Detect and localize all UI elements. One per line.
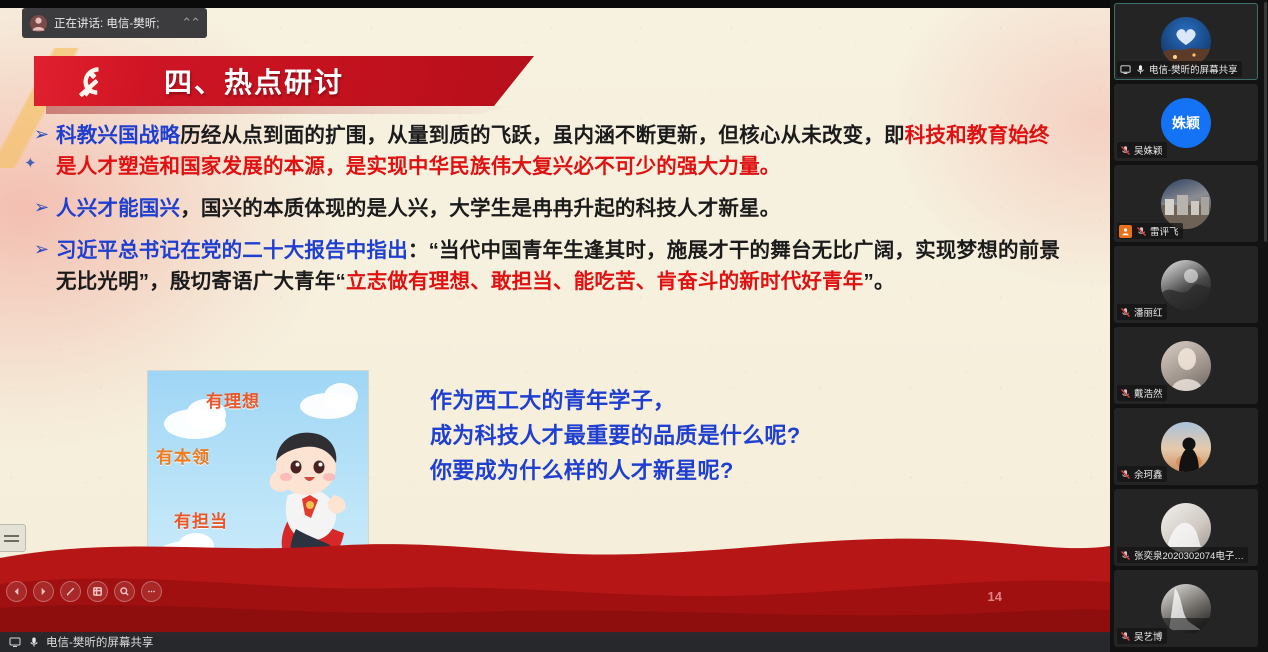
slide-bullet-list: ➢ 科教兴国战略历经从点到面的扩围，从量到质的飞跃，虽内涵不断更新，但核心从未改… xyxy=(34,120,1064,308)
participant-tile[interactable]: 张奕泉2020302074电子… xyxy=(1114,489,1258,566)
microphone-muted-icon xyxy=(1119,144,1131,156)
bullet-run: 历经从点到面的扩围，从量到质的飞跃，虽内涵不断更新，但核心从未改变，即 xyxy=(180,124,905,147)
participant-tile[interactable]: 吴艺博 xyxy=(1114,570,1258,647)
flying-boy-character-icon xyxy=(244,417,364,577)
collapsed-toolbar-handle[interactable] xyxy=(0,524,26,552)
powerpoint-slide[interactable]: ✦ 四、热点研讨 ➢ 科教兴国 xyxy=(0,8,1110,636)
microphone-muted-icon xyxy=(1135,225,1147,237)
microphone-muted-icon xyxy=(1119,630,1131,642)
participant-tile[interactable]: 雷评飞 xyxy=(1114,165,1258,242)
microphone-muted-icon xyxy=(1119,306,1131,318)
participant-panel-scrollbar[interactable] xyxy=(1264,2,1267,242)
next-slide-button[interactable] xyxy=(33,581,54,602)
participant-tile[interactable]: 余珂鑫 xyxy=(1114,408,1258,485)
avatar xyxy=(1161,179,1211,229)
white-texture-photo-icon xyxy=(1161,503,1211,553)
screen-share-icon xyxy=(8,636,21,649)
person-glyph-icon xyxy=(30,15,47,32)
grid-slides-icon xyxy=(92,586,103,597)
participant-tile[interactable]: 戴浩然 xyxy=(1114,327,1258,404)
heart-sky-photo-icon xyxy=(1161,17,1211,67)
participant-name: 张奕泉2020302074电子… xyxy=(1134,548,1244,562)
participant-tile[interactable]: 姝颖 吴姝颖 xyxy=(1114,84,1258,161)
participant-label: 电信-樊昕的屏幕共享 xyxy=(1117,61,1242,77)
avatar xyxy=(1161,260,1211,310)
host-badge-icon xyxy=(1119,225,1132,238)
participant-name: 雷评飞 xyxy=(1150,224,1179,238)
bullet-text-3: 习近平总书记在党的二十大报告中指出：“当代中国青年生逢其时，施展才干的舞台无比广… xyxy=(56,235,1064,297)
participant-label: 戴浩然 xyxy=(1117,385,1167,401)
participant-tile[interactable]: 潘丽红 xyxy=(1114,246,1258,323)
triangle-right-icon xyxy=(38,586,49,597)
cloud-shape xyxy=(178,533,214,559)
slideshow-toolbar[interactable] xyxy=(6,581,162,602)
person-avatar-icon xyxy=(30,15,47,32)
question-line-1: 作为西工大的青年学子， xyxy=(430,383,1050,418)
illustration-word-3: 有担当 xyxy=(174,507,228,532)
bullet-run: ”。 xyxy=(864,270,895,293)
participant-label: 雷评飞 xyxy=(1117,223,1183,239)
bullet-item-3: ➢ 习近平总书记在党的二十大报告中指出：“当代中国青年生逢其时，施展才干的舞台无… xyxy=(34,235,1064,297)
participant-name: 吴姝颖 xyxy=(1134,143,1163,157)
avatar xyxy=(1161,584,1211,634)
double-chevron-icon[interactable]: ⌃⌃ xyxy=(181,15,199,31)
slide-page-number: 14 xyxy=(988,589,1002,604)
pen-tool-button[interactable] xyxy=(60,581,81,602)
pen-icon xyxy=(65,586,76,597)
screen-share-icon xyxy=(1119,63,1131,75)
dark-texture-photo-icon xyxy=(1161,584,1211,634)
discussion-questions: 作为西工大的青年学子， 成为科技人才最重要的品质是什么呢? 你要成为什么样的人才… xyxy=(430,383,1050,488)
slide-title: 四、热点研讨 xyxy=(164,56,344,106)
avatar xyxy=(1161,341,1211,391)
microphone-icon xyxy=(1134,63,1146,75)
hammer-and-sickle-icon xyxy=(70,61,112,101)
participant-label: 吴艺博 xyxy=(1117,628,1167,644)
city-photo-icon xyxy=(1161,179,1211,229)
participant-label: 吴姝颖 xyxy=(1117,142,1167,158)
share-status-bar: 电信-樊昕的屏幕共享 xyxy=(0,632,1110,652)
avatar xyxy=(1161,422,1211,472)
all-slides-button[interactable] xyxy=(87,581,108,602)
bullet-item-2: ➢ 人兴才能国兴，国兴的本质体现的是人兴，大学生是冉冉升起的科技人才新星。 xyxy=(34,193,1064,224)
slide-title-banner: 四、热点研讨 xyxy=(34,56,534,114)
shared-screen-area[interactable]: ✦ 四、热点研讨 ➢ 科教兴国 xyxy=(0,0,1110,652)
bullet-marker-icon: ➢ xyxy=(34,235,56,264)
bullet-run: 人兴才能国兴 xyxy=(56,197,180,220)
participant-label: 潘丽红 xyxy=(1117,304,1167,320)
participant-name: 潘丽红 xyxy=(1134,305,1163,319)
microphone-muted-icon xyxy=(1119,468,1131,480)
participant-label: 余珂鑫 xyxy=(1117,466,1167,482)
bullet-run: 立志做有理想、敢担当、能吃苦、肯奋斗的新时代好青年 xyxy=(346,270,864,293)
illustration-word-2: 有本领 xyxy=(156,443,210,468)
participant-name: 吴艺博 xyxy=(1134,629,1163,643)
question-line-2: 成为科技人才最重要的品质是什么呢? xyxy=(430,418,1050,453)
active-speaker-label: 正在讲话: 电信-樊昕; xyxy=(54,15,174,31)
bullet-text-1: 科教兴国战略历经从点到面的扩围，从量到质的飞跃，虽内涵不断更新，但核心从未改变，… xyxy=(56,120,1064,182)
participant-video-panel[interactable]: 电信-樊昕的屏幕共享 姝颖 吴姝颖 xyxy=(1110,0,1268,652)
participant-tile-screen-share[interactable]: 电信-樊昕的屏幕共享 xyxy=(1114,3,1258,80)
share-status-label: 电信-樊昕的屏幕共享 xyxy=(46,634,153,650)
microphone-icon xyxy=(27,636,40,649)
bullet-run: 科教兴国战略 xyxy=(56,124,180,147)
bullet-marker-icon: ➢ xyxy=(34,120,56,149)
sunset-silhouette-photo-icon xyxy=(1161,422,1211,472)
zoom-button[interactable] xyxy=(114,581,135,602)
bullet-text-2: 人兴才能国兴，国兴的本质体现的是人兴，大学生是冉冉升起的科技人才新星。 xyxy=(56,193,1064,224)
party-emblem-block xyxy=(34,56,152,106)
avatar xyxy=(1161,17,1211,67)
cloud-shape xyxy=(324,383,358,411)
magnifier-icon xyxy=(119,586,130,597)
grayscale-photo-icon xyxy=(1161,260,1211,310)
more-options-button[interactable] xyxy=(141,581,162,602)
question-line-3: 你要成为什么样的人才新星呢? xyxy=(430,453,1050,488)
portrait-photo-icon xyxy=(1161,341,1211,391)
bullet-run: 习近平总书记在党的二十大报告中指出 xyxy=(56,239,408,262)
participant-name: 余珂鑫 xyxy=(1134,467,1163,481)
participant-name: 电信-樊昕的屏幕共享 xyxy=(1149,62,1238,76)
microphone-muted-icon xyxy=(1119,387,1131,399)
bullet-item-1: ➢ 科教兴国战略历经从点到面的扩围，从量到质的飞跃，虽内涵不断更新，但核心从未改… xyxy=(34,120,1064,182)
handle-line xyxy=(4,540,19,542)
microphone-muted-icon xyxy=(1119,549,1131,561)
meeting-screen-share-window: ✦ 四、热点研讨 ➢ 科教兴国 xyxy=(0,0,1268,652)
avatar: 姝颖 xyxy=(1161,98,1211,148)
participant-label: 张奕泉2020302074电子… xyxy=(1117,547,1248,563)
participant-name: 戴浩然 xyxy=(1134,386,1163,400)
avatar-initials: 姝颖 xyxy=(1172,113,1200,133)
avatar xyxy=(1161,503,1211,553)
ellipsis-icon xyxy=(146,586,157,597)
active-speaker-banner[interactable]: 正在讲话: 电信-樊昕; ⌃⌃ xyxy=(22,8,207,38)
illustration-word-1: 有理想 xyxy=(206,387,260,412)
triangle-left-icon xyxy=(11,586,22,597)
cartoon-youth-illustration: 有理想 有本领 有担当 xyxy=(147,370,369,582)
bullet-run: ，国兴的本质体现的是人兴，大学生是冉冉升起的科技人才新星。 xyxy=(180,197,780,220)
handle-line xyxy=(4,535,19,537)
bullet-marker-icon: ➢ xyxy=(34,193,56,222)
previous-slide-button[interactable] xyxy=(6,581,27,602)
banner-shadow xyxy=(46,106,526,114)
